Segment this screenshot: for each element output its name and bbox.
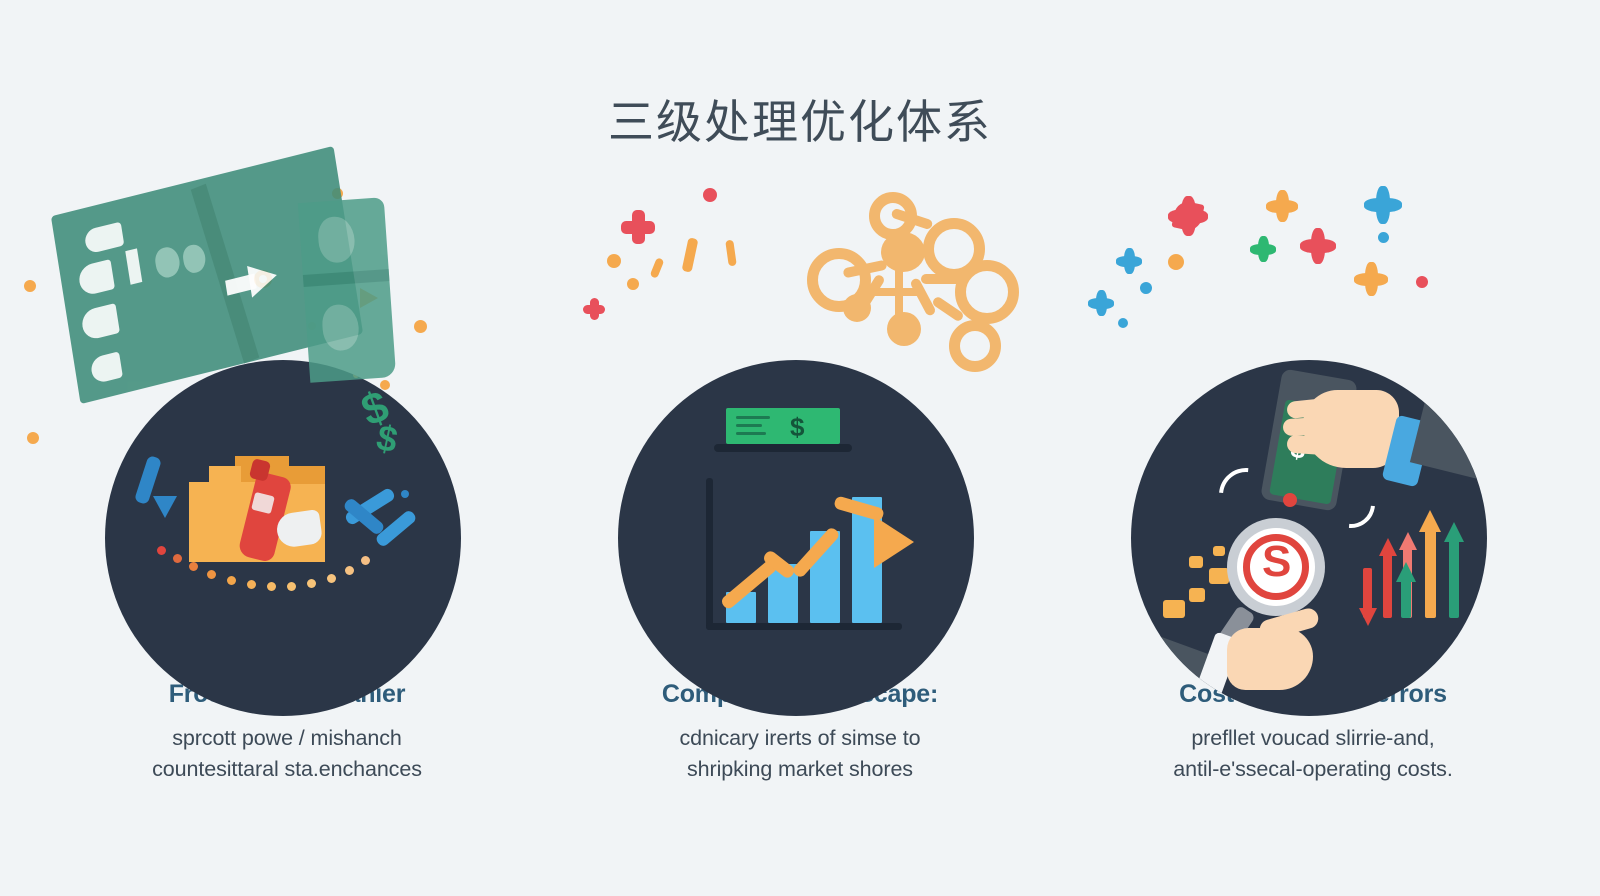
red-dot-icon (1416, 276, 1428, 288)
monitor-base (714, 444, 852, 452)
arrow-indicators-group (1359, 510, 1469, 640)
gold-chip-icon (1189, 588, 1205, 602)
four-point-star-icon (1266, 190, 1298, 222)
network-cluster-icon (807, 192, 997, 362)
arrow-down-head (1359, 608, 1377, 626)
arrow-up-icon (1401, 580, 1411, 618)
orange-dot-icon (24, 280, 36, 292)
four-point-star-icon (1300, 228, 1336, 264)
illustration-3: $ (1068, 170, 1558, 680)
monitor-dollar-icon: $ (726, 408, 840, 444)
caption-2-line-1: cdnicary irerts of simse to (590, 723, 1010, 754)
blue-arrow-icon (153, 496, 177, 518)
arrow-up-head (1396, 562, 1416, 582)
infographic-page: 三级处理优化体系 (0, 0, 1600, 896)
caption-2-line-2: shripking market shores (590, 754, 1010, 785)
disc-2: $ (618, 360, 974, 716)
caption-1-line-2: countesittaral sta.enchances (77, 754, 497, 785)
blue-dot-icon (401, 490, 409, 498)
dollar-sign-icon: $ (790, 412, 804, 443)
four-point-star-icon (1354, 262, 1388, 296)
arrow-up-head (1444, 522, 1464, 542)
column-2: $ (555, 170, 1045, 784)
disc-3: $ (1131, 360, 1487, 716)
disc-1: $ $ (105, 360, 461, 716)
illustration-2: $ (555, 170, 1045, 680)
gold-chip-icon (1189, 556, 1203, 568)
sleeve-icon (1410, 394, 1487, 484)
arrow-up-head (1419, 510, 1441, 532)
gold-chip-icon (1163, 600, 1185, 618)
four-point-star-icon (1168, 196, 1208, 236)
orange-dot-icon (607, 254, 621, 268)
blue-dot-icon (1140, 282, 1152, 294)
gold-chip-icon (1213, 546, 1225, 556)
orange-dot-icon (627, 278, 639, 290)
page-title: 三级处理优化体系 (0, 86, 1600, 152)
gold-chip-icon (1209, 568, 1229, 584)
four-point-star-icon (1088, 290, 1114, 316)
illustration-1: $ $ (42, 170, 532, 680)
arrow-up-icon (1425, 530, 1436, 618)
dollar-sign-icon: S (1262, 540, 1291, 584)
caption-1-line-1: sprcott powe / mishanch (77, 723, 497, 754)
finger-icon (1283, 417, 1328, 436)
banknote-fold-icon (298, 197, 396, 383)
trend-arrow-icon (714, 480, 914, 630)
orange-tick-icon (650, 257, 665, 279)
four-point-star-icon (1364, 186, 1402, 224)
arrow-up-icon (1383, 554, 1392, 618)
red-cross-icon (583, 298, 605, 320)
red-dot-icon (703, 188, 717, 202)
orange-tick-icon (682, 237, 699, 272)
caption-3-line-1: prefllet voucad slirrie-and, (1103, 723, 1523, 754)
caption-3-line-2: antil-e'ssecal-operating costs. (1103, 754, 1523, 785)
four-point-star-icon (1250, 236, 1276, 262)
blue-dot-icon (1118, 318, 1128, 328)
chart-y-axis (706, 478, 713, 630)
orange-dot-icon (27, 432, 39, 444)
column-1: $ $ (42, 170, 532, 784)
arrow-up-head (1379, 538, 1397, 556)
finger-icon (1286, 434, 1331, 455)
dotted-arc-icon (157, 538, 397, 608)
orange-dot-icon (1168, 254, 1184, 270)
orange-tick-icon (725, 240, 737, 267)
orange-dot-icon (380, 380, 390, 390)
four-point-star-icon (1116, 248, 1142, 274)
column-3: $ (1068, 170, 1558, 784)
red-cross-icon (621, 210, 655, 244)
arrow-up-head (1399, 532, 1417, 550)
orange-dot-icon (414, 320, 427, 333)
columns-container: $ $ (0, 170, 1600, 784)
blue-dot-icon (1378, 232, 1389, 243)
arrow-up-icon (1449, 540, 1459, 618)
phone-home-dot (1283, 493, 1297, 507)
